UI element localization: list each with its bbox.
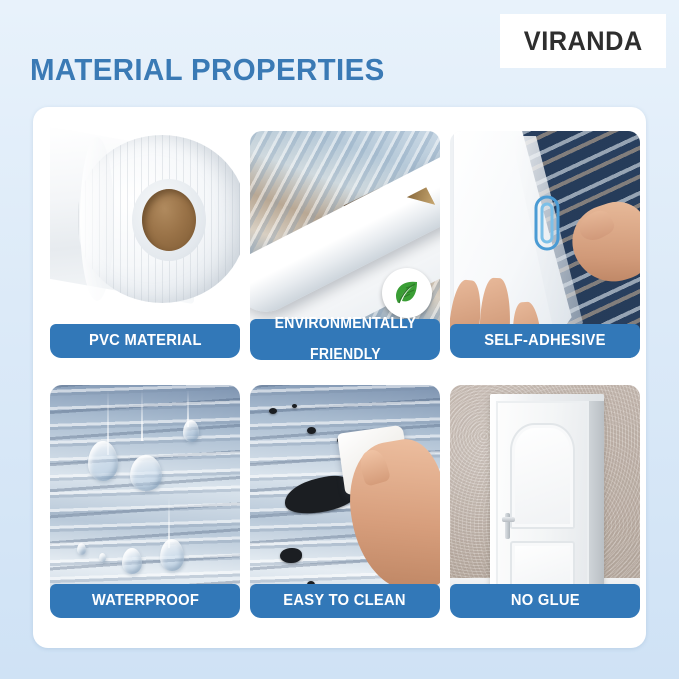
feature-cell-waterproof[interactable]: WATERPROOF xyxy=(50,385,240,618)
water-droplet xyxy=(77,543,86,555)
water-droplet xyxy=(130,455,162,491)
feature-label-no-glue: NO GLUE xyxy=(450,584,640,618)
feature-cell-self-adhesive[interactable]: SELF-ADHESIVE xyxy=(450,131,640,358)
feature-label-easy-to-clean: EASY TO CLEAN xyxy=(250,584,440,618)
feature-grid: PVC MATERIAL ENVIRONMENTALLY FRIE xyxy=(0,0,679,679)
feature-label-self-adhesive: SELF-ADHESIVE xyxy=(450,324,640,358)
water-droplet xyxy=(122,548,142,574)
pvc-roll-image xyxy=(50,121,240,358)
stain xyxy=(307,427,316,434)
feature-label-pvc-material: PVC MATERIAL xyxy=(50,324,240,358)
roll-core-icon xyxy=(142,189,196,251)
feature-cell-pvc-material[interactable]: PVC MATERIAL xyxy=(50,121,240,358)
water-droplet xyxy=(183,420,199,442)
water-droplet xyxy=(160,539,184,571)
feature-cell-easy-to-clean[interactable]: EASY TO CLEAN xyxy=(250,385,440,618)
feature-cell-no-glue[interactable]: NO GLUE xyxy=(450,385,640,618)
leaf-icon xyxy=(390,276,424,310)
leaf-badge xyxy=(382,268,432,318)
door-icon xyxy=(490,394,604,608)
paperclip-icon xyxy=(534,195,560,251)
feature-cell-environmentally-friendly[interactable]: ENVIRONMENTALLY FRIENDLY xyxy=(250,131,440,360)
water-droplet xyxy=(88,441,118,481)
feature-label-waterproof: WATERPROOF xyxy=(50,584,240,618)
stain xyxy=(292,404,297,408)
door-handle xyxy=(502,517,515,522)
feature-label-environmentally-friendly: ENVIRONMENTALLY FRIENDLY xyxy=(250,319,440,360)
